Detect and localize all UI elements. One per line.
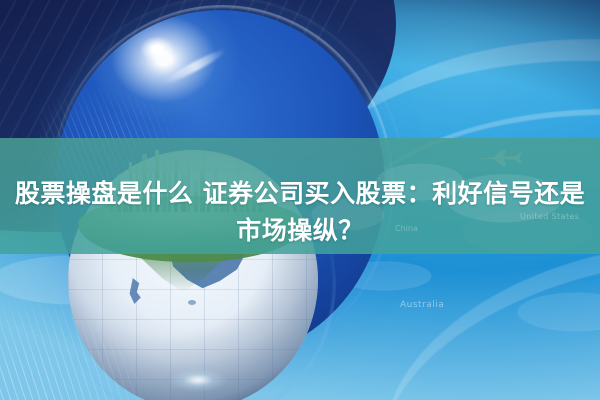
dome-specular-highlight: [140, 36, 174, 62]
article-hero-banner: Australia United States China: [0, 0, 600, 400]
fine-diagonal-stripes-bottom-left: [0, 270, 210, 400]
page-title: 股票操盘是什么 证券公司买入股票：利好信号还是市场操纵？: [0, 175, 600, 249]
